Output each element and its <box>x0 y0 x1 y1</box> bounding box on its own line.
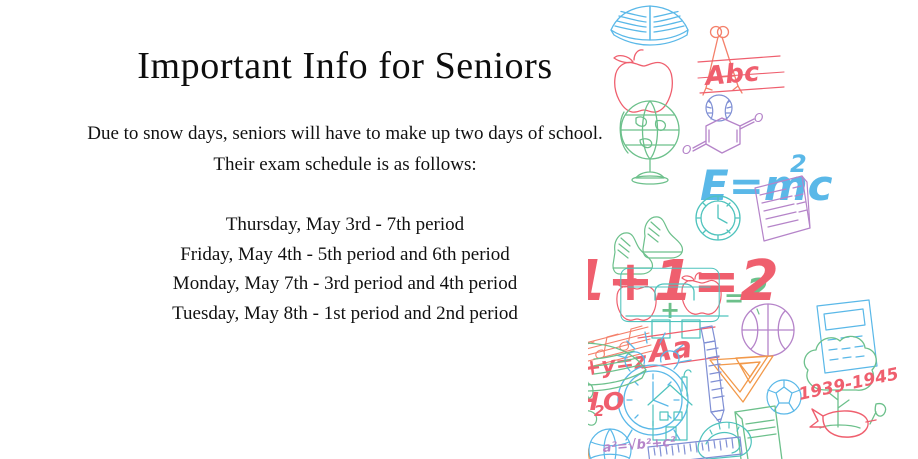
svg-text:2: 2 <box>747 273 768 308</box>
schedule-item: Friday, May 4th - 5th period and 6th per… <box>0 240 690 270</box>
poster-canvas: Important Info for Seniors Due to snow d… <box>0 0 918 459</box>
svg-text:Abc: Abc <box>702 57 761 92</box>
page-title: Important Info for Seniors <box>0 44 690 88</box>
svg-text:O: O <box>754 111 763 125</box>
notes-paper-icon <box>755 176 810 241</box>
wall-clock-icon <box>696 196 740 240</box>
svg-text:2: 2 <box>790 150 807 178</box>
pencil-icon <box>701 326 724 423</box>
set-square-icon <box>710 356 773 402</box>
intro-line-1: Due to snow days, seniors will have to m… <box>0 118 690 149</box>
notebook-icon <box>735 406 783 459</box>
intro-paragraph: Due to snow days, seniors will have to m… <box>0 118 690 180</box>
abc-cursive-text: Abc <box>698 56 784 93</box>
calculator-blue-icon <box>817 300 877 373</box>
protractor-icon <box>698 422 751 459</box>
text-content-column: Important Info for Seniors Due to snow d… <box>0 0 690 459</box>
emc2-formula-text: E=mc 2 <box>700 150 833 210</box>
tree-icon <box>804 336 885 428</box>
schedule-item: Tuesday, May 8th - 1st period and 2nd pe… <box>0 299 690 329</box>
war-years-text: 1939-1945 <box>797 364 901 405</box>
schedule-item: Thursday, May 3rd - 7th period <box>0 210 690 240</box>
soccer-ball-icon <box>767 380 801 414</box>
benzene-molecule-icon: O O <box>682 111 763 157</box>
basketball-icon <box>742 304 794 356</box>
baseball-icon <box>706 95 732 121</box>
bomb-icon <box>810 409 876 437</box>
schedule-item: Monday, May 7th - 3rd period and 4th per… <box>0 269 690 299</box>
intro-line-2: Their exam schedule is as follows: <box>0 149 690 180</box>
svg-text:1939-1945: 1939-1945 <box>797 364 901 405</box>
svg-text:=: = <box>724 284 744 312</box>
compass-icon <box>703 27 742 96</box>
exam-schedule-list: Thursday, May 3rd - 7th period Friday, M… <box>0 210 690 328</box>
svg-text:E=mc: E=mc <box>700 161 833 210</box>
